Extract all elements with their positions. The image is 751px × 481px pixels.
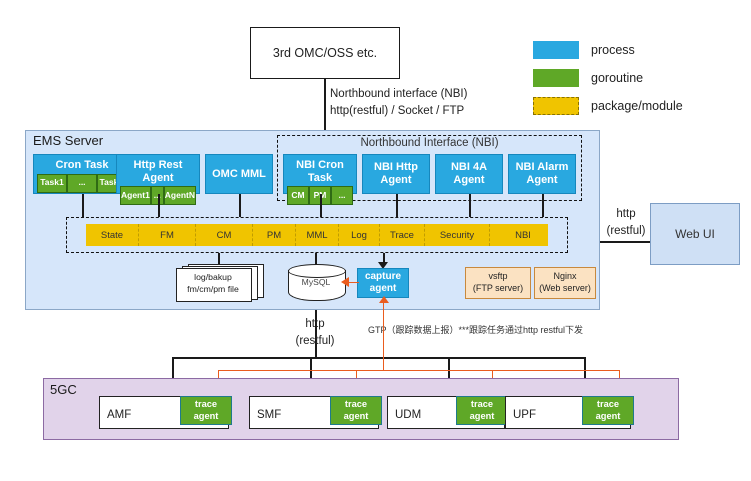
5gc-title: 5GC <box>50 382 77 397</box>
legend-swatch-goroutine <box>533 69 579 87</box>
nbi-link-label: Northbound interface (NBI) http(restful)… <box>330 86 467 119</box>
trace-agent-amf[interactable]: trace agent <box>180 396 232 425</box>
nf-node-upf[interactable]: UPF trace agent <box>505 396 631 429</box>
gtp-note-label: GTP（跟踪数据上报）***跟踪任务通过http restful下发 <box>368 323 583 336</box>
server-vsftp-line1: vsftp <box>473 271 523 283</box>
connector-ems-to-webui <box>600 241 650 243</box>
legend-label-module: package/module <box>591 99 683 113</box>
process-nbi-4a-agent[interactable]: NBI 4A Agent <box>435 154 503 194</box>
webui-link-label: http (restful) <box>602 206 650 240</box>
process-omc-mml-label: OMC MML <box>212 168 266 181</box>
arrowhead-capture-to-mysql <box>341 277 349 287</box>
ems-server-title: EMS Server <box>33 133 103 148</box>
module-security[interactable]: Security <box>425 224 490 246</box>
goroutine-cm: CM <box>287 186 309 205</box>
nf-node-smf[interactable]: SMF trace agent <box>249 396 379 429</box>
connector-http-rest-agent-to-modules <box>158 194 160 217</box>
connector-nbi-4a-to-modules <box>469 194 471 217</box>
process-nbi-cron-task[interactable]: NBI Cron Task CM PM ... <box>283 154 357 194</box>
goroutine-agentn: AgentN <box>164 186 196 205</box>
nf-node-upf-label: UPF <box>513 409 536 421</box>
omc-oss-node: 3rd OMC/OSS etc. <box>250 27 400 79</box>
server-nginx: Nginx (Web server) <box>534 267 596 299</box>
trace-agent-smf-line2: agent <box>344 411 369 422</box>
trace-agent-udm-line1: trace <box>471 399 493 410</box>
process-nbi-cron-task-label: NBI Cron Task <box>284 155 356 184</box>
nbi-link-line1: Northbound interface (NBI) <box>330 86 467 103</box>
connector-omc-to-ems <box>324 79 326 135</box>
module-bar: State FM CM PM MML Log Trace Security NB… <box>86 224 548 246</box>
bus-5gc-http <box>172 357 585 359</box>
module-pm[interactable]: PM <box>253 224 296 246</box>
log-backup-line2: fm/cm/pm file <box>176 284 250 296</box>
trace-agent-amf-line1: trace <box>195 399 217 410</box>
legend: process goroutine package/module <box>533 41 683 125</box>
process-nbi-http-agent-label: NBI Http Agent <box>374 161 418 186</box>
process-nbi-alarm-agent[interactable]: NBI Alarm Agent <box>508 154 576 194</box>
log-backup-files: log/bakup fm/cm/pm file <box>176 264 262 300</box>
nf-node-amf[interactable]: AMF trace agent <box>99 396 229 429</box>
legend-item-module: package/module <box>533 97 683 115</box>
connector-nbi-http-to-modules <box>396 194 398 217</box>
connector-nbi-cron-to-modules <box>320 194 322 217</box>
process-nbi-alarm-agent-label: NBI Alarm Agent <box>516 161 569 186</box>
goroutine-nbi-ellipsis: ... <box>331 186 353 205</box>
goroutine-agent1: Agent1 <box>120 186 151 205</box>
webui-link-line1: http <box>616 206 635 223</box>
omc-oss-label: 3rd OMC/OSS etc. <box>273 46 377 60</box>
connector-nbi-alarm-to-modules <box>542 194 544 217</box>
mysql-label: MySQL <box>288 277 344 287</box>
connector-capture-to-mysql <box>349 282 359 283</box>
ems-5gc-http-line2: (restful) <box>296 333 335 350</box>
module-cm[interactable]: CM <box>196 224 253 246</box>
legend-item-process: process <box>533 41 683 59</box>
goroutine-task-ellipsis: ... <box>67 174 97 193</box>
module-log[interactable]: Log <box>339 224 380 246</box>
process-http-rest-agent-label: Http Rest Agent <box>117 155 199 184</box>
module-nbi[interactable]: NBI <box>490 224 556 246</box>
process-nbi-http-agent[interactable]: NBI Http Agent <box>362 154 430 194</box>
module-state[interactable]: State <box>86 224 139 246</box>
bus-gtp-uplink <box>218 370 620 371</box>
module-trace[interactable]: Trace <box>380 224 425 246</box>
module-fm[interactable]: FM <box>139 224 196 246</box>
legend-swatch-module <box>533 97 579 115</box>
mysql-database: MySQL <box>288 264 344 300</box>
trace-agent-smf-line1: trace <box>345 399 367 410</box>
ems-5gc-http-label: http (restful) <box>290 316 340 350</box>
nbi-group-title: Northbound Interface (NBI) <box>277 137 582 149</box>
trace-agent-udm-line2: agent <box>470 411 495 422</box>
capture-agent-line2: agent <box>365 283 401 296</box>
nbi-link-line2: http(restful) / Socket / FTP <box>330 103 467 120</box>
trace-agent-amf-line2: agent <box>194 411 219 422</box>
legend-label-process: process <box>591 43 635 57</box>
ems-5gc-http-line1: http <box>305 316 324 333</box>
connector-omc-mml-to-modules <box>239 194 241 217</box>
process-nbi-4a-agent-label: NBI 4A Agent <box>451 161 487 186</box>
web-ui-node[interactable]: Web UI <box>650 203 740 265</box>
webui-link-line2: (restful) <box>607 223 646 240</box>
web-ui-label: Web UI <box>675 227 715 241</box>
capture-agent-line1: capture <box>365 271 401 284</box>
connector-cron-task-to-modules <box>82 194 84 217</box>
nf-node-smf-label: SMF <box>257 409 281 421</box>
log-backup-line1: log/bakup <box>176 272 250 284</box>
trace-agent-upf[interactable]: trace agent <box>582 396 634 425</box>
capture-agent[interactable]: capture agent <box>357 268 409 298</box>
arrowhead-gtp-uplink <box>379 296 389 303</box>
process-http-rest-agent[interactable]: Http Rest Agent Agent1 ... AgentN <box>116 154 200 194</box>
log-backup-files-label: log/bakup fm/cm/pm file <box>176 272 250 295</box>
legend-swatch-process <box>533 41 579 59</box>
legend-item-goroutine: goroutine <box>533 69 683 87</box>
server-nginx-line2: (Web server) <box>539 283 591 295</box>
trace-agent-smf[interactable]: trace agent <box>330 396 382 425</box>
module-mml[interactable]: MML <box>296 224 339 246</box>
nf-node-udm[interactable]: UDM trace agent <box>387 396 505 429</box>
server-vsftp: vsftp (FTP server) <box>465 267 531 299</box>
legend-label-goroutine: goroutine <box>591 71 643 85</box>
process-omc-mml[interactable]: OMC MML <box>205 154 273 194</box>
trace-agent-udm[interactable]: trace agent <box>456 396 508 425</box>
server-nginx-line1: Nginx <box>539 271 591 283</box>
trace-agent-upf-line2: agent <box>596 411 621 422</box>
connector-gtp-uplink-trunk <box>383 302 384 370</box>
server-vsftp-line2: (FTP server) <box>473 283 523 295</box>
nf-node-udm-label: UDM <box>395 409 421 421</box>
trace-agent-upf-line1: trace <box>597 399 619 410</box>
nf-node-amf-label: AMF <box>107 409 131 421</box>
goroutine-task1: Task1 <box>37 174 67 193</box>
